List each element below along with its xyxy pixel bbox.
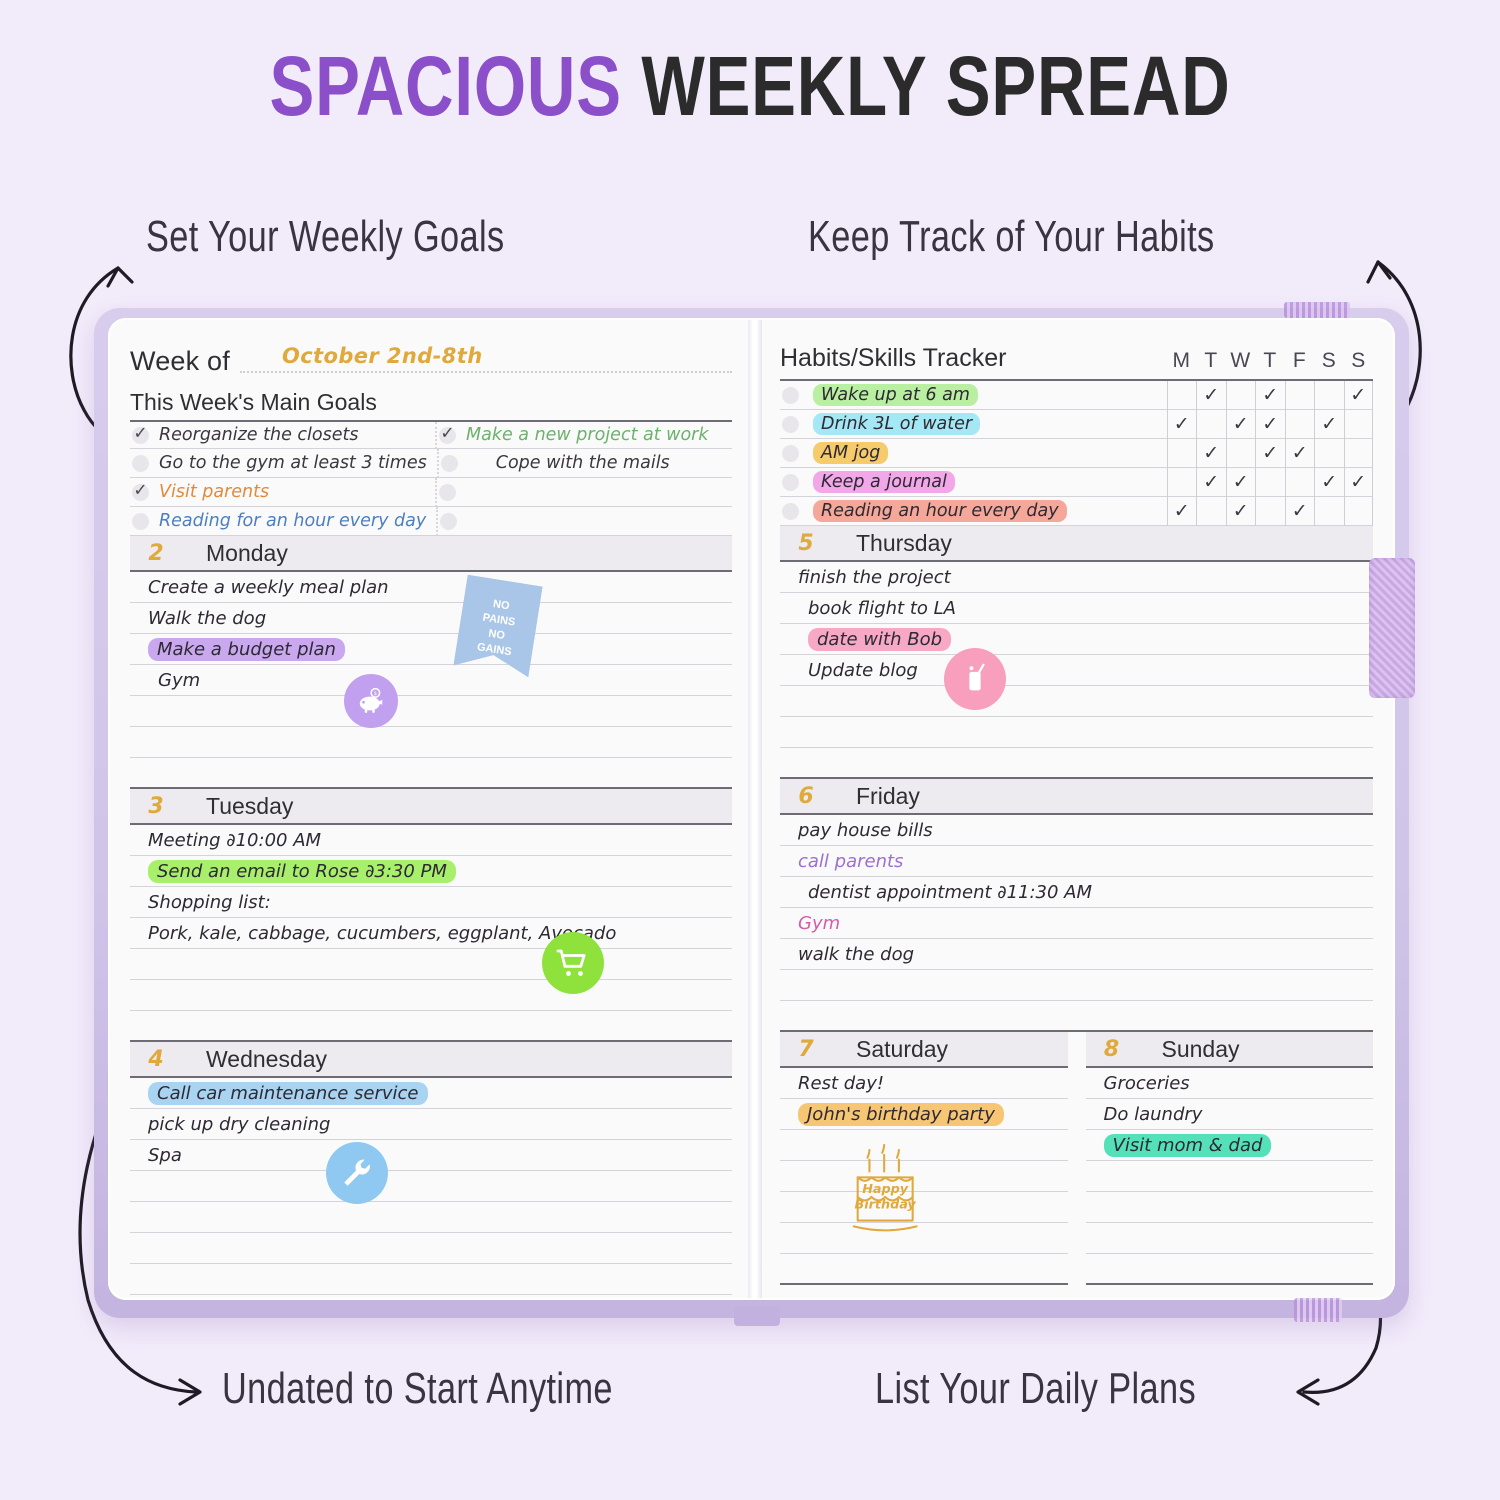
habit-name: Wake up at 6 am <box>813 384 978 406</box>
habit-day-headers: MTWTFSS <box>1167 349 1374 373</box>
day-header: 7Saturday <box>780 1032 1068 1066</box>
weekday-blocks-left: 2MondayCreate a weekly meal planWalk the… <box>130 536 732 1300</box>
day-header: 8Sunday <box>1086 1032 1374 1066</box>
banner-line-1: NO <box>492 598 510 612</box>
goal-label: Reorganize the closets <box>159 425 358 445</box>
day-entry-text: Pork, kale, cabbage, cucumbers, eggplant… <box>148 923 616 944</box>
day-line[interactable] <box>130 1295 732 1300</box>
habit-bullet[interactable] <box>782 387 799 404</box>
day-entry-text: book flight to LA <box>808 598 956 619</box>
week-of-underline <box>240 371 732 373</box>
day-line[interactable]: Create a weekly meal plan <box>130 572 732 603</box>
habit-row: Reading an hour every day✓✓✓ <box>780 497 1373 526</box>
banner-line-4: GAINS <box>476 641 512 658</box>
habit-row: Wake up at 6 am✓✓✓ <box>780 381 1373 410</box>
goal-cell[interactable]: Go to the gym at least 3 times <box>130 449 439 478</box>
day-line[interactable]: book flight to LA <box>780 593 1373 624</box>
day-number: 6 <box>780 779 832 813</box>
habit-row: Keep a journal✓✓✓✓ <box>780 468 1373 497</box>
goal-label: Cope with the mails <box>468 453 670 473</box>
day-number: 8 <box>1086 1032 1138 1066</box>
ribbon-top <box>1284 302 1350 318</box>
day-line[interactable]: finish the project <box>780 562 1373 593</box>
habit-check-cell[interactable] <box>1344 439 1374 468</box>
habit-check-cell[interactable] <box>1167 439 1197 468</box>
habit-check-cell[interactable]: ✓ <box>1196 381 1226 410</box>
day-entry-text: Spa <box>148 1145 182 1166</box>
day-line[interactable] <box>780 1001 1373 1032</box>
goal-row: Reading for an hour every day <box>130 507 732 536</box>
habit-check-cell[interactable]: ✓ <box>1314 468 1344 497</box>
day-block: 4WednesdayCall car maintenance servicepi… <box>130 1042 732 1300</box>
day-entry-text: Call car maintenance service <box>148 1082 428 1105</box>
goal-checkbox[interactable] <box>132 427 149 444</box>
goal-checkbox[interactable] <box>132 513 149 530</box>
callout-set-weekly-goals: Set Your Weekly Goals <box>146 212 505 262</box>
goal-cell[interactable]: Reading for an hour every day <box>130 507 438 536</box>
right-page: Habits/Skills Tracker MTWTFSS Wake up at… <box>754 318 1395 1300</box>
habit-check-cell[interactable]: ✓ <box>1255 381 1285 410</box>
day-number: 4 <box>130 1042 182 1076</box>
day-line[interactable] <box>130 1171 732 1202</box>
banner-line-2: PAINS <box>482 611 516 628</box>
habit-check-grid: ✓✓✓ <box>1167 497 1374 526</box>
habit-check-cell[interactable] <box>1314 381 1344 410</box>
day-header: 4Wednesday <box>130 1042 732 1076</box>
habit-day-header: T <box>1255 349 1285 373</box>
weekday-blocks-right: 5Thursdayfinish the projectbook flight t… <box>780 526 1373 1032</box>
habit-check-cell[interactable] <box>1314 497 1344 526</box>
habit-check-cell[interactable]: ✓ <box>1344 381 1374 410</box>
day-lines: finish the projectbook flight to LAdate … <box>780 560 1373 779</box>
day-line[interactable]: Call car maintenance service <box>130 1078 732 1109</box>
day-line[interactable]: Gym <box>130 665 732 696</box>
svg-text:$: $ <box>374 691 378 697</box>
habit-row: Drink 3L of water✓✓✓✓ <box>780 410 1373 439</box>
day-lines: Meeting ∂10:00 AMSend an email to Rose ∂… <box>130 823 732 1042</box>
weekly-goals-grid: Reorganize the closetsMake a new project… <box>130 420 732 536</box>
day-line[interactable]: pick up dry cleaning <box>130 1109 732 1140</box>
happy-birthday-cake-icon: Happy Birthday <box>840 1142 948 1254</box>
habit-check-cell[interactable] <box>1285 381 1315 410</box>
day-line[interactable]: call parents <box>780 846 1373 877</box>
week-of-value[interactable]: October 2nd-8th <box>240 344 732 368</box>
day-header: 2Monday <box>130 536 732 570</box>
habit-check-cell[interactable] <box>1226 381 1256 410</box>
habit-check-cell[interactable]: ✓ <box>1226 410 1256 439</box>
day-line[interactable]: Spa <box>130 1140 732 1171</box>
habit-check-cell[interactable]: ✓ <box>1285 497 1315 526</box>
day-name: Saturday <box>832 1032 1068 1066</box>
day-entry-text: finish the project <box>798 567 951 588</box>
habit-check-cell[interactable]: ✓ <box>1344 468 1374 497</box>
day-line[interactable] <box>780 748 1373 779</box>
habits-tracker-rows: Wake up at 6 am✓✓✓Drink 3L of water✓✓✓✓A… <box>780 379 1373 526</box>
week-of-row: Week of October 2nd-8th <box>130 344 732 377</box>
goal-row: Go to the gym at least 3 timesCope with … <box>130 449 732 478</box>
goal-checkbox[interactable] <box>439 484 456 501</box>
week-of-label: Week of <box>130 346 230 377</box>
habit-label-cell: Keep a journal <box>780 471 1167 493</box>
day-entry-text: pay house bills <box>798 820 933 841</box>
day-entry-text: date with Bob <box>808 628 951 651</box>
goal-row: Reorganize the closetsMake a new project… <box>130 420 732 449</box>
habit-name: AM jog <box>813 442 888 464</box>
habit-check-grid: ✓✓✓✓ <box>1167 410 1374 439</box>
piggy-bank-icon: $ <box>344 674 398 728</box>
page-gutter <box>748 318 762 1300</box>
goal-cell[interactable]: Visit parents <box>130 478 437 507</box>
day-entry-text: dentist appointment ∂11:30 AM <box>808 882 1092 903</box>
day-name: Friday <box>832 779 1373 813</box>
day-line[interactable]: John's birthday party <box>780 1099 1068 1130</box>
goal-cell[interactable] <box>437 478 732 507</box>
page-title: SPACIOUS WEEKLY SPREAD <box>150 38 1350 135</box>
goal-cell[interactable] <box>438 507 732 536</box>
elastic-band <box>1369 558 1415 698</box>
day-entry-text: Gym <box>158 670 200 691</box>
habit-check-cell[interactable]: ✓ <box>1255 439 1285 468</box>
day-number: 7 <box>780 1032 832 1066</box>
habit-check-grid: ✓✓✓✓ <box>1167 468 1374 497</box>
habit-label-cell: Wake up at 6 am <box>780 384 1167 406</box>
habit-check-cell[interactable]: ✓ <box>1314 410 1344 439</box>
day-line[interactable]: walk the dog <box>780 939 1373 970</box>
habit-bullet[interactable] <box>782 503 799 520</box>
day-block: 6Fridaypay house billscall parentsdentis… <box>780 779 1373 1032</box>
habit-day-header: S <box>1344 349 1374 373</box>
habit-check-cell[interactable] <box>1196 410 1226 439</box>
habit-day-header: S <box>1314 349 1344 373</box>
shopping-cart-icon <box>542 932 604 994</box>
habit-check-cell[interactable]: ✓ <box>1196 439 1226 468</box>
day-line[interactable]: Update blog <box>780 655 1373 686</box>
goal-cell[interactable]: Reorganize the closets <box>130 422 437 449</box>
banner-line-3: NO <box>488 627 506 641</box>
day-name: Sunday <box>1138 1032 1374 1066</box>
day-line[interactable] <box>780 1254 1068 1285</box>
habit-check-cell[interactable] <box>1344 497 1374 526</box>
day-entry-text: pick up dry cleaning <box>148 1114 330 1135</box>
day-line[interactable] <box>780 970 1373 1001</box>
svg-text:Birthday: Birthday <box>855 1198 917 1213</box>
habit-day-header: W <box>1226 349 1256 373</box>
day-line[interactable]: Make a budget plan <box>130 634 732 665</box>
day-block: 8SundayGroceriesDo laundryVisit mom & da… <box>1086 1032 1374 1285</box>
planner-notebook: Week of October 2nd-8th This Week's Main… <box>94 308 1409 1318</box>
spine-tab <box>734 1306 780 1326</box>
day-line[interactable]: Shopping list: <box>130 887 732 918</box>
day-entry-text: Rest day! <box>798 1073 884 1094</box>
habit-name: Keep a journal <box>813 471 955 493</box>
goal-label: Reading for an hour every day <box>159 511 426 531</box>
day-line[interactable] <box>130 696 732 727</box>
day-entry-text: Shopping list: <box>148 892 271 913</box>
day-line[interactable] <box>130 1233 732 1264</box>
day-entry-text: Send an email to Rose ∂3:30 PM <box>148 860 456 883</box>
day-line[interactable] <box>1086 1192 1374 1223</box>
wrench-icon <box>326 1142 388 1204</box>
day-entry-text: Meeting ∂10:00 AM <box>148 830 321 851</box>
day-number: 5 <box>780 526 832 560</box>
goal-checkbox[interactable] <box>439 427 456 444</box>
habit-check-cell[interactable] <box>1314 439 1344 468</box>
day-line[interactable] <box>130 1264 732 1295</box>
habit-name: Reading an hour every day <box>813 500 1067 522</box>
habit-check-cell[interactable]: ✓ <box>1167 497 1197 526</box>
day-line[interactable] <box>130 1202 732 1233</box>
day-line[interactable] <box>1086 1223 1374 1254</box>
day-lines: Create a weekly meal planWalk the dogMak… <box>130 570 732 789</box>
callout-track-habits: Keep Track of Your Habits <box>808 212 1215 262</box>
day-line[interactable] <box>130 949 732 980</box>
day-entry-text: Gym <box>798 913 840 934</box>
ribbon-bottom <box>1294 1298 1342 1322</box>
habit-row: AM jog✓✓✓ <box>780 439 1373 468</box>
habit-check-cell[interactable] <box>1285 468 1315 497</box>
day-block: 2MondayCreate a weekly meal planWalk the… <box>130 536 732 789</box>
habit-check-cell[interactable] <box>1226 439 1256 468</box>
habit-check-cell[interactable] <box>1255 468 1285 497</box>
habits-title: Habits/Skills Tracker <box>780 344 1006 373</box>
habits-header: Habits/Skills Tracker MTWTFSS <box>780 344 1373 379</box>
habit-check-cell[interactable]: ✓ <box>1196 468 1226 497</box>
habit-label-cell: Drink 3L of water <box>780 413 1167 435</box>
day-block: 3TuesdayMeeting ∂10:00 AMSend an email t… <box>130 789 732 1042</box>
day-line[interactable]: Groceries <box>1086 1068 1374 1099</box>
day-lines: pay house billscall parentsdentist appoi… <box>780 813 1373 1032</box>
day-line[interactable]: Meeting ∂10:00 AM <box>130 825 732 856</box>
callout-undated: Undated to Start Anytime <box>222 1364 613 1414</box>
day-line[interactable]: Visit mom & dad <box>1086 1130 1374 1161</box>
habit-name: Drink 3L of water <box>813 413 980 435</box>
goal-label: Visit parents <box>159 482 269 502</box>
day-line[interactable] <box>130 980 732 1011</box>
day-number: 3 <box>130 789 182 823</box>
goal-label: Make a new project at work <box>466 425 709 445</box>
goals-section-title: This Week's Main Goals <box>130 389 732 416</box>
goal-row: Visit parents <box>130 478 732 507</box>
goal-cell[interactable]: Make a new project at work <box>437 422 732 449</box>
day-lines: GroceriesDo laundryVisit mom & dad <box>1086 1066 1374 1285</box>
day-name: Tuesday <box>182 789 732 823</box>
day-line[interactable]: dentist appointment ∂11:30 AM <box>780 877 1373 908</box>
goal-checkbox[interactable] <box>440 513 457 530</box>
day-line[interactable]: date with Bob <box>780 624 1373 655</box>
habit-check-cell[interactable]: ✓ <box>1167 410 1197 439</box>
day-line[interactable] <box>780 686 1373 717</box>
day-line[interactable] <box>130 758 732 789</box>
day-entry-text: Create a weekly meal plan <box>148 577 389 598</box>
habit-label-cell: AM jog <box>780 442 1167 464</box>
day-entry-text: walk the dog <box>798 944 914 965</box>
day-lines: Call car maintenance servicepick up dry … <box>130 1076 732 1300</box>
goal-cell[interactable]: Cope with the mails <box>439 449 732 478</box>
day-block: 5Thursdayfinish the projectbook flight t… <box>780 526 1373 779</box>
day-entry-text: Do laundry <box>1104 1104 1203 1125</box>
day-entry-text: call parents <box>798 851 903 872</box>
day-line[interactable] <box>1086 1254 1374 1285</box>
day-entry-text: Walk the dog <box>148 608 266 629</box>
notebook-pages: Week of October 2nd-8th This Week's Main… <box>108 318 1395 1300</box>
habit-check-cell[interactable] <box>1255 497 1285 526</box>
day-line[interactable] <box>1086 1161 1374 1192</box>
habit-check-grid: ✓✓✓ <box>1167 381 1374 410</box>
habit-check-cell[interactable] <box>1285 410 1315 439</box>
day-name: Wednesday <box>182 1042 732 1076</box>
day-line[interactable]: pay house bills <box>780 815 1373 846</box>
habit-check-cell[interactable]: ✓ <box>1226 468 1256 497</box>
no-pains-no-gains-sticker: NO PAINS NO GAINS <box>460 580 536 672</box>
habit-label-cell: Reading an hour every day <box>780 500 1167 522</box>
day-line[interactable]: Gym <box>780 908 1373 939</box>
svg-text:Happy: Happy <box>862 1182 909 1197</box>
day-header: 5Thursday <box>780 526 1373 560</box>
left-page: Week of October 2nd-8th This Week's Main… <box>108 318 754 1300</box>
goal-checkbox[interactable] <box>441 455 458 472</box>
day-line[interactable]: Walk the dog <box>130 603 732 634</box>
habit-day-header: F <box>1285 349 1315 373</box>
habit-bullet[interactable] <box>782 474 799 491</box>
drink-glass-icon <box>944 648 1006 710</box>
day-entry-text: Make a budget plan <box>148 638 345 661</box>
page-title-part1: SPACIOUS <box>269 39 621 133</box>
day-line[interactable]: Send an email to Rose ∂3:30 PM <box>130 856 732 887</box>
day-header: 6Friday <box>780 779 1373 813</box>
habit-check-cell[interactable] <box>1167 468 1197 497</box>
day-entry-text: Visit mom & dad <box>1104 1134 1272 1157</box>
day-line[interactable] <box>130 727 732 758</box>
habit-check-cell[interactable]: ✓ <box>1226 497 1256 526</box>
habit-bullet[interactable] <box>782 445 799 462</box>
day-number: 2 <box>130 536 182 570</box>
day-entry-text: Groceries <box>1104 1073 1190 1094</box>
day-line[interactable]: Rest day! <box>780 1068 1068 1099</box>
habit-day-header: M <box>1167 349 1197 373</box>
goal-checkbox[interactable] <box>132 484 149 501</box>
habit-check-cell[interactable] <box>1167 381 1197 410</box>
day-entry-text: Update blog <box>808 660 918 681</box>
day-header: 3Tuesday <box>130 789 732 823</box>
page-title-part2: WEEKLY SPREAD <box>641 39 1230 133</box>
goal-label: Go to the gym at least 3 times <box>159 453 427 473</box>
habit-check-cell[interactable]: ✓ <box>1285 439 1315 468</box>
habit-check-cell[interactable]: ✓ <box>1255 410 1285 439</box>
day-name: Monday <box>182 536 732 570</box>
day-line[interactable] <box>780 717 1373 748</box>
habit-check-grid: ✓✓✓ <box>1167 439 1374 468</box>
day-entry-text: John's birthday party <box>798 1103 1004 1126</box>
day-line[interactable]: Do laundry <box>1086 1099 1374 1130</box>
habit-check-cell[interactable] <box>1344 410 1374 439</box>
weekend-column: 8SundayGroceriesDo laundryVisit mom & da… <box>1086 1032 1374 1285</box>
habit-bullet[interactable] <box>782 416 799 433</box>
day-line[interactable]: Pork, kale, cabbage, cucumbers, eggplant… <box>130 918 732 949</box>
habit-check-cell[interactable] <box>1196 497 1226 526</box>
callout-daily-plans: List Your Daily Plans <box>875 1364 1196 1414</box>
day-line[interactable] <box>130 1011 732 1042</box>
habit-day-header: T <box>1196 349 1226 373</box>
day-name: Thursday <box>832 526 1373 560</box>
goal-checkbox[interactable] <box>132 455 149 472</box>
